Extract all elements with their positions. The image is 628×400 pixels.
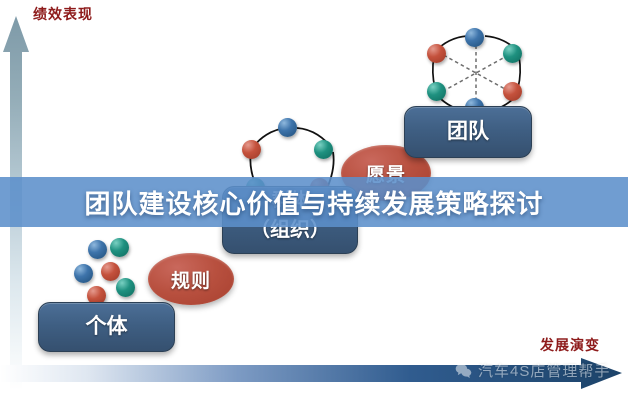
node-teal	[314, 140, 333, 159]
node-red	[427, 44, 446, 63]
node-teal	[116, 278, 135, 297]
node-red	[503, 82, 522, 101]
stage-box-individual-label: 个体	[86, 314, 128, 340]
diagram-canvas: 绩效表现 发展演变	[0, 0, 628, 400]
callout-rules: 规则	[148, 253, 234, 305]
title-banner: 团队建设核心价值与持续发展策略探讨	[0, 177, 628, 227]
node-red	[242, 140, 261, 159]
node-blue	[465, 28, 484, 47]
stage-box-individual: 个体	[38, 302, 175, 352]
node-red	[101, 262, 120, 281]
callout-rules-label: 规则	[171, 266, 211, 293]
node-teal	[503, 44, 522, 63]
node-blue	[88, 240, 107, 259]
node-blue	[278, 118, 297, 137]
stage-box-team-label: 团队	[447, 119, 489, 145]
stage-box-team: 团队	[404, 106, 532, 158]
cluster-individual-scattered-nodes	[60, 238, 150, 310]
horizontal-axis-arrow	[0, 358, 622, 392]
banner-title: 团队建设核心价值与持续发展策略探讨	[84, 184, 543, 221]
node-teal	[427, 82, 446, 101]
node-teal	[110, 238, 129, 257]
vertical-axis-label: 绩效表现	[33, 4, 93, 24]
horizontal-axis-label: 发展演变	[540, 335, 600, 355]
node-blue	[74, 264, 93, 283]
